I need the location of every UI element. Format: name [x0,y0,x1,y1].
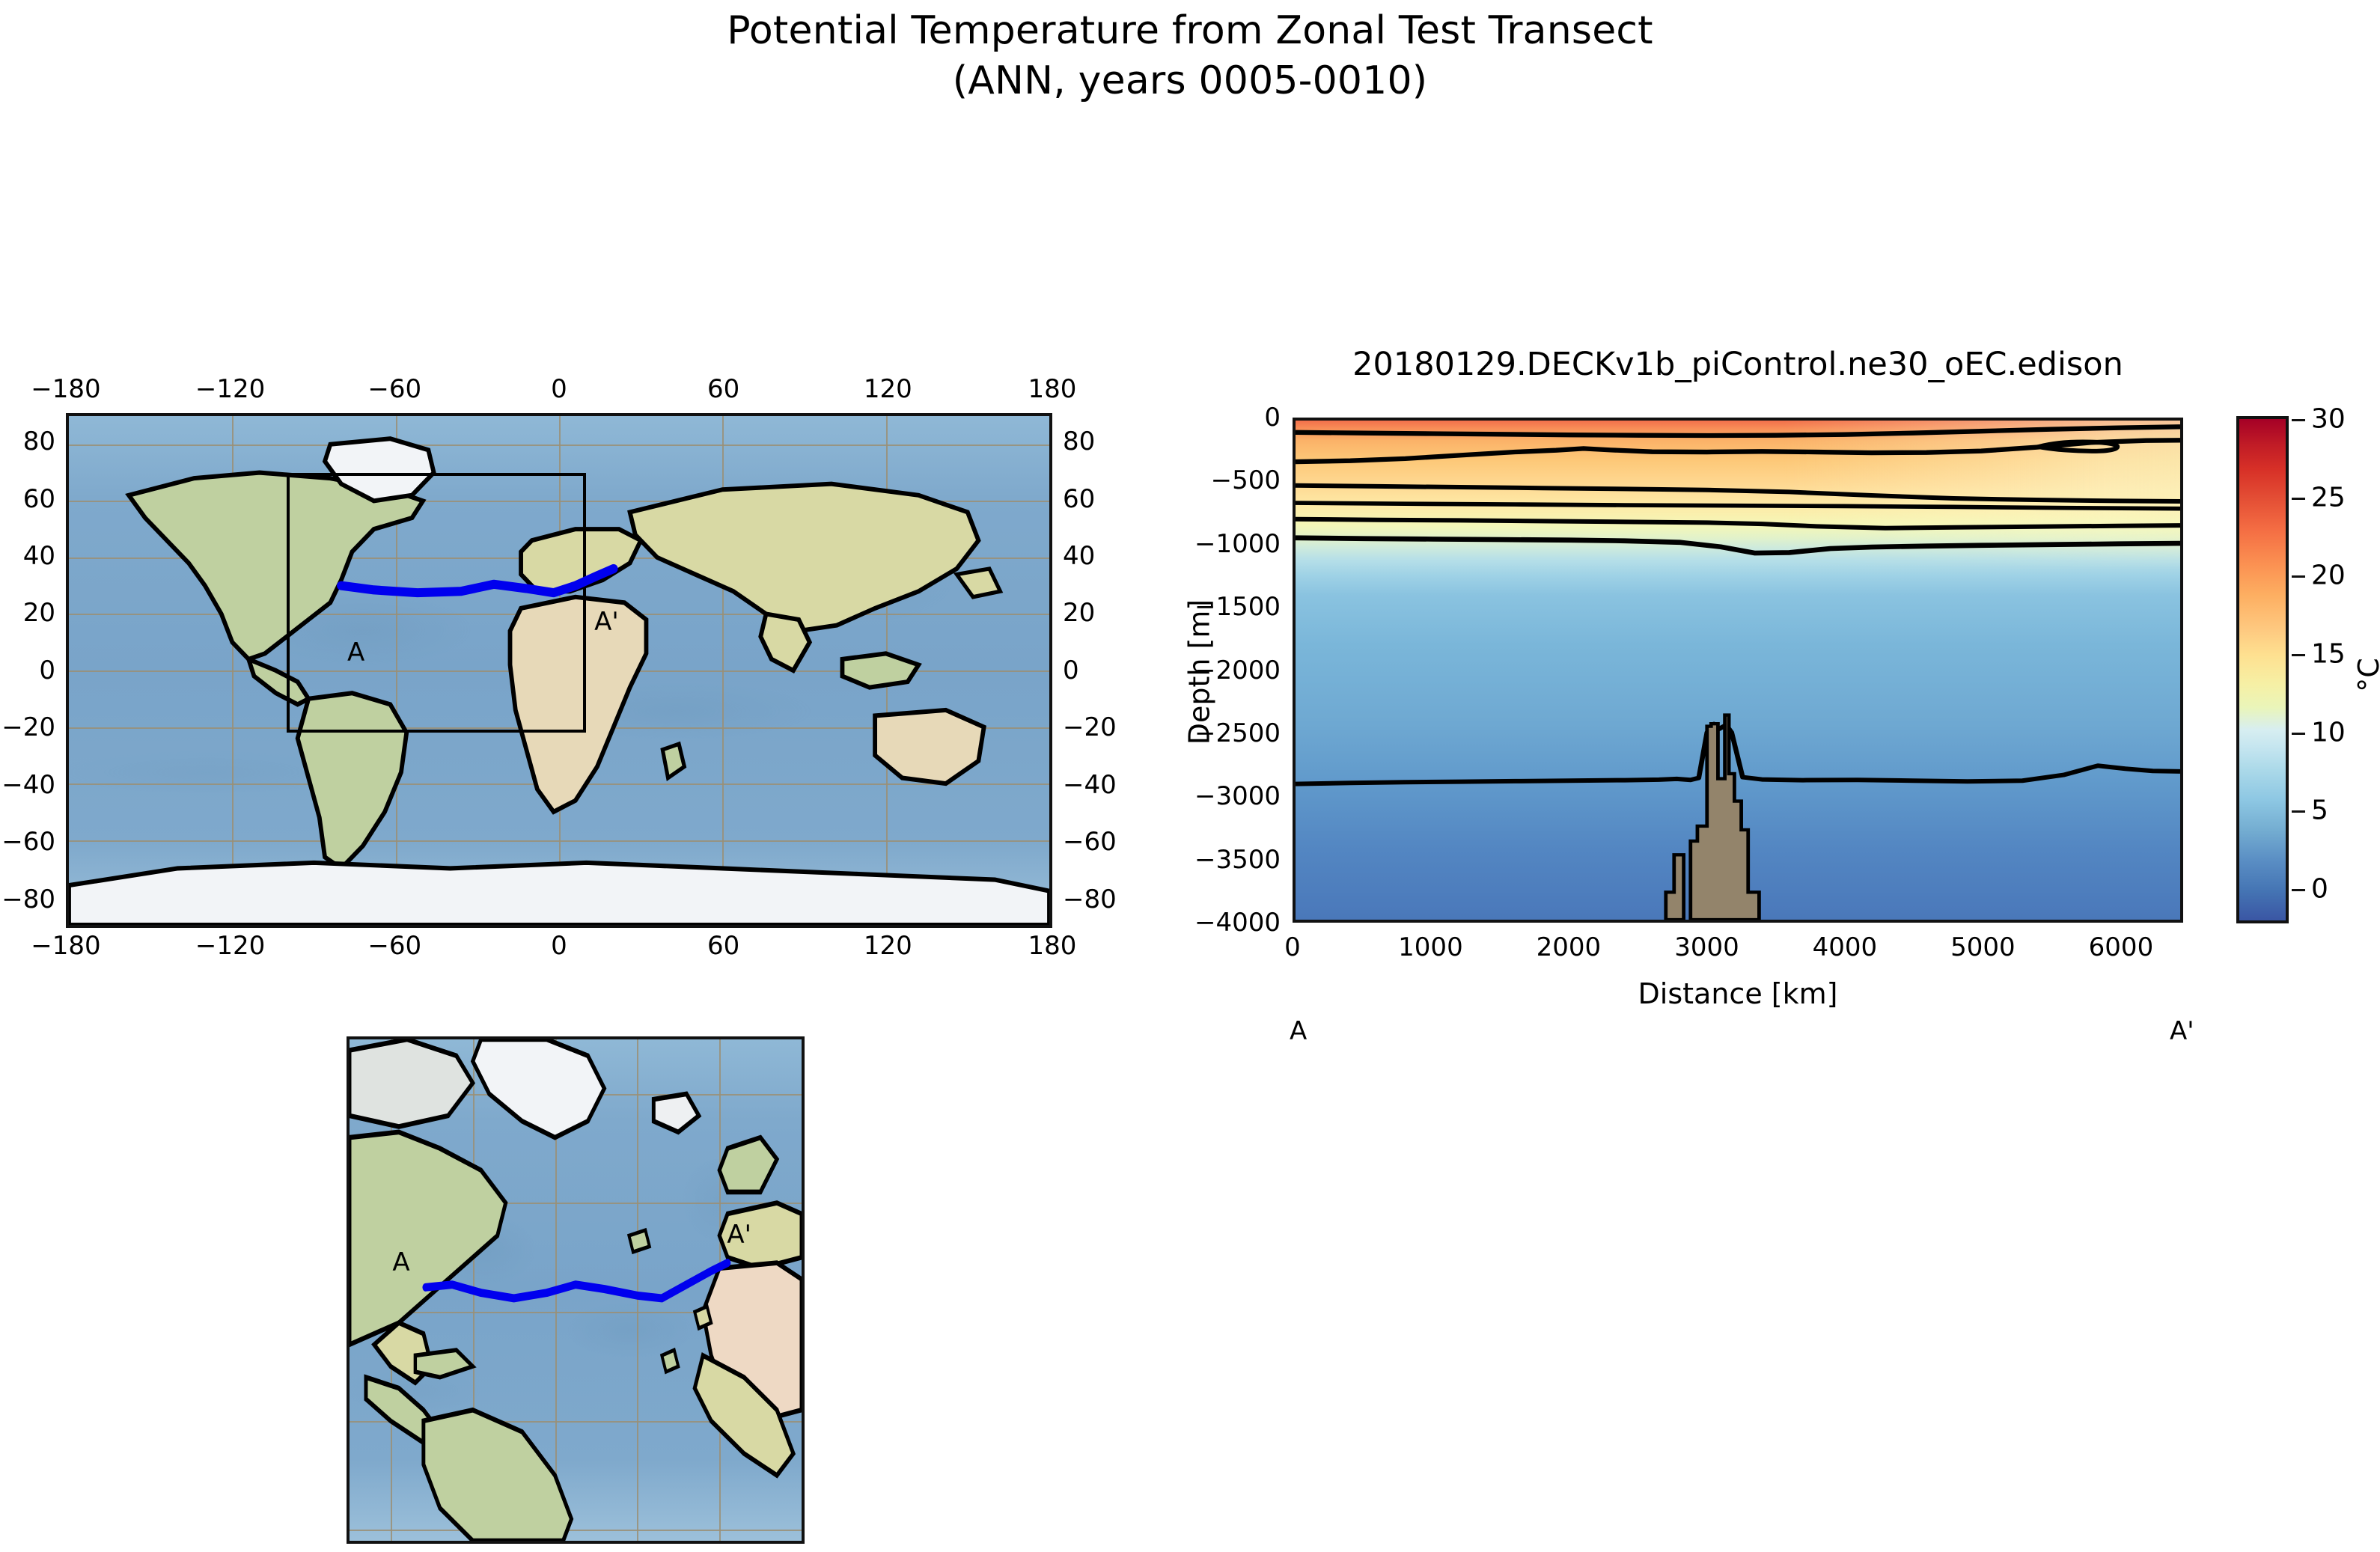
figure-title-line1: Potential Temperature from Zonal Test Tr… [0,6,2380,56]
distance-tick-0: 0 [1284,932,1301,962]
colorbar-unit-label: °C [2352,658,2380,692]
world-ytick-r-m60: −60 [1063,827,1117,857]
distance-tick-3000: 3000 [1674,932,1739,962]
inset-map-frame: A A' [347,1036,805,1544]
world-ytick-r-m20: −20 [1063,712,1117,742]
transect-axes-frame [1293,418,2183,923]
world-ytick-l-m80: −80 [1,885,55,914]
colorbar-tick-0 [2292,889,2305,891]
distance-tick-1000: 1000 [1398,932,1463,962]
colorbar-label-20: 20 [2311,560,2346,591]
world-xtick-bot-3: 0 [551,931,567,961]
colorbar-tick-30 [2292,419,2305,421]
distance-tick-2000: 2000 [1537,932,1602,962]
world-map-panel[interactable]: A A' −180 −120 −60 0 60 120 180 −180 −12… [66,413,1052,928]
colorbar-label-25: 25 [2311,482,2346,513]
world-ytick-r-m80: −80 [1063,885,1117,914]
world-xtick-top-6: 180 [1028,374,1077,404]
world-xtick-top-0: −180 [31,374,100,404]
colorbar-label-5: 5 [2311,795,2328,826]
colorbar-label-15: 15 [2311,639,2346,670]
transect-start-endpoint-label: A [1290,1016,1307,1046]
world-ytick-l-20: 20 [23,598,55,628]
temperature-colorbar[interactable]: 30 25 20 15 10 5 0 °C [2236,416,2289,923]
transect-subplot-title: 20180129.DECKv1b_piControl.ne30_oEC.edis… [1293,346,2183,383]
world-map-frame: A A' [66,413,1052,928]
depth-tick-m3000: −3000 [1194,781,1281,811]
world-ytick-r-0: 0 [1063,656,1079,685]
distance-tick-6000: 6000 [2089,932,2154,962]
world-xtick-top-5: 120 [864,374,912,404]
distance-axis-label: Distance [km] [1638,977,1838,1010]
world-xtick-bot-1: −120 [195,931,265,961]
world-xtick-bot-2: −60 [367,931,421,961]
colorbar-label-30: 30 [2311,404,2346,435]
colorbar-tick-25 [2292,498,2305,500]
world-xtick-bot-0: −180 [31,931,100,961]
depth-tick-m4000: −4000 [1194,908,1281,938]
world-ytick-l-60: 60 [23,484,55,514]
transect-start-label-world: A [347,638,364,667]
colorbar-tick-15 [2292,654,2305,656]
figure-title: Potential Temperature from Zonal Test Tr… [0,6,2380,106]
distance-tick-4000: 4000 [1813,932,1878,962]
world-ytick-r-40: 40 [1063,541,1095,571]
colorbar-tick-10 [2292,733,2305,735]
world-ytick-r-20: 20 [1063,598,1095,628]
world-ytick-l-40: 40 [23,541,55,571]
depth-axis-label: Depth [m] [1183,599,1215,745]
transect-cross-section-panel[interactable]: 0 −500 −1000 −1500 −2000 −2500 −3000 −35… [1293,418,2183,923]
world-ytick-l-80: 80 [23,427,55,456]
transect-path-world [69,416,1049,925]
world-xtick-bot-6: 180 [1028,931,1077,961]
world-ytick-r-80: 80 [1063,427,1095,456]
transect-path-inset [350,1039,802,1541]
world-ytick-l-0: 0 [39,656,55,685]
depth-tick-m1000: −1000 [1194,529,1281,559]
transect-end-label-inset: A' [727,1220,751,1250]
depth-tick-m500: −500 [1211,465,1281,495]
transect-end-label-world: A' [594,607,619,637]
world-xtick-top-4: 60 [707,374,739,404]
contours-and-bathymetry-layer [1296,421,2180,920]
world-xtick-top-2: −60 [367,374,421,404]
depth-tick-m3500: −3500 [1194,845,1281,875]
world-xtick-bot-4: 60 [707,931,739,961]
world-xtick-top-1: −120 [195,374,265,404]
inset-map-panel[interactable]: A A' [347,1036,805,1544]
distance-tick-5000: 5000 [1950,932,2016,962]
depth-tick-0: 0 [1264,403,1281,433]
world-ytick-r-60: 60 [1063,484,1095,514]
world-ytick-l-m40: −40 [1,770,55,800]
world-ytick-l-m20: −20 [1,712,55,742]
figure-title-line2: (ANN, years 0005-0010) [0,56,2380,106]
world-xtick-bot-5: 120 [864,931,912,961]
colorbar-label-10: 10 [2311,717,2346,748]
transect-end-endpoint-label: A' [2170,1016,2194,1046]
colorbar-tick-5 [2292,810,2305,813]
world-ytick-l-m60: −60 [1,827,55,857]
world-xtick-top-3: 0 [551,374,567,404]
colorbar-label-0: 0 [2311,874,2328,905]
colorbar-tick-20 [2292,575,2305,578]
transect-start-label-inset: A [392,1247,409,1277]
world-ytick-r-m40: −40 [1063,770,1117,800]
